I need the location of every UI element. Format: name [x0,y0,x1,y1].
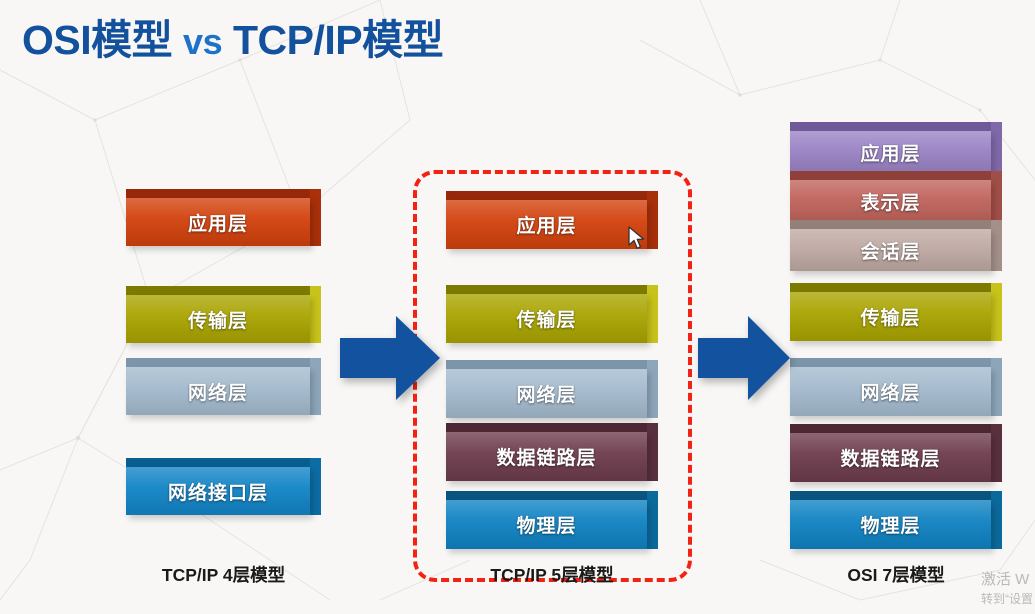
bar-side-face [991,358,1002,416]
bar-front-face: 物理层 [446,500,647,549]
layer-bar-osi7-network[interactable]: 网络层 [790,358,1002,416]
layer-bar-osi7-session[interactable]: 会话层 [790,220,1002,271]
title-part-tcpip: TCP/IP模型 [233,17,443,63]
bar-side-face [991,491,1002,549]
bar-top-face [790,283,1002,292]
bar-top-face [446,191,658,200]
bar-front-face: 数据链路层 [446,432,647,481]
bar-front-face: 网络接口层 [126,467,310,515]
bar-side-face [647,423,658,481]
bar-top-face [126,189,321,198]
layer-bar-tcpip4-application[interactable]: 应用层 [126,189,321,246]
layer-bar-osi7-application[interactable]: 应用层 [790,122,1002,173]
layer-bar-tcpip5-network[interactable]: 网络层 [446,360,658,418]
bar-side-face [991,424,1002,482]
bar-side-face [991,171,1002,222]
bar-front-face: 数据链路层 [790,433,991,482]
title-part-osi: OSI模型 [22,17,172,63]
bar-front-face: 应用层 [790,131,991,173]
bar-front-face: 传输层 [126,295,310,343]
bar-side-face [991,122,1002,173]
arrow-tcpip5-to-osi7 [698,316,790,400]
bar-side-face [647,285,658,343]
bar-top-face [790,220,1002,229]
page-title: OSI模型 vs TCP/IP模型 [22,6,443,66]
bar-front-face: 物理层 [790,500,991,549]
bar-front-face: 应用层 [446,200,647,249]
layer-bar-tcpip4-transport[interactable]: 传输层 [126,286,321,343]
layer-bar-osi7-datalink[interactable]: 数据链路层 [790,424,1002,482]
layer-bar-tcpip5-application[interactable]: 应用层 [446,191,658,249]
bar-side-face [310,189,321,246]
layer-label: 应用层 [860,139,920,166]
bar-front-face: 网络层 [790,367,991,416]
bar-top-face [446,285,658,294]
bar-side-face [647,360,658,418]
bar-top-face [790,122,1002,131]
bar-front-face: 会话层 [790,229,991,271]
layer-label: 数据链路层 [496,443,596,470]
layer-bar-osi7-transport[interactable]: 传输层 [790,283,1002,341]
layer-label: 网络层 [516,380,576,407]
bar-side-face [310,358,321,415]
bar-top-face [446,423,658,432]
bar-side-face [310,286,321,343]
bar-top-face [446,491,658,500]
bar-front-face: 应用层 [126,198,310,246]
layer-label: 传输层 [188,306,248,333]
caption-tcpip4: TCP/IP 4层模型 [126,562,321,587]
bar-top-face [446,360,658,369]
bar-top-face [790,424,1002,433]
layer-label: 物理层 [860,511,920,538]
bar-top-face [126,358,321,367]
bar-front-face: 传输层 [790,292,991,341]
bar-top-face [126,286,321,295]
bar-side-face [991,220,1002,271]
caption-osi7: OSI 7层模型 [790,562,1002,587]
layer-label: 传输层 [516,305,576,332]
layer-label: 应用层 [516,211,576,238]
layer-label: 会话层 [860,237,920,264]
title-part-vs: vs [183,21,222,62]
layer-label: 传输层 [860,303,920,330]
watermark-line-1: 激活 W [981,569,1033,591]
layer-label: 应用层 [188,209,248,236]
bar-side-face [310,458,321,515]
layer-bar-osi7-presentation[interactable]: 表示层 [790,171,1002,222]
layer-label: 物理层 [516,511,576,538]
bar-front-face: 网络层 [446,369,647,418]
watermark-line-2: 转到“设置 [981,591,1033,608]
arrow-tcpip4-to-tcpip5 [340,316,440,400]
layer-label: 网络层 [860,378,920,405]
layer-label: 表示层 [860,188,920,215]
bar-side-face [647,491,658,549]
bar-side-face [647,191,658,249]
layer-label: 网络层 [188,378,248,405]
caption-tcpip5: TCP/IP 5层模型 [446,562,658,587]
bar-top-face [790,358,1002,367]
windows-activation-watermark: 激活 W 转到“设置 [981,569,1033,608]
bar-top-face [790,171,1002,180]
layer-label: 网络接口层 [168,478,268,505]
bar-front-face: 表示层 [790,180,991,222]
layer-bar-tcpip4-network-interface[interactable]: 网络接口层 [126,458,321,515]
bar-top-face [126,458,321,467]
bar-side-face [991,283,1002,341]
bar-top-face [790,491,1002,500]
layer-bar-tcpip5-datalink[interactable]: 数据链路层 [446,423,658,481]
layer-bar-tcpip4-network[interactable]: 网络层 [126,358,321,415]
layer-bar-tcpip5-transport[interactable]: 传输层 [446,285,658,343]
layer-bar-osi7-physical[interactable]: 物理层 [790,491,1002,549]
bar-front-face: 网络层 [126,367,310,415]
layer-label: 数据链路层 [840,444,940,471]
bar-front-face: 传输层 [446,294,647,343]
layer-bar-tcpip5-physical[interactable]: 物理层 [446,491,658,549]
